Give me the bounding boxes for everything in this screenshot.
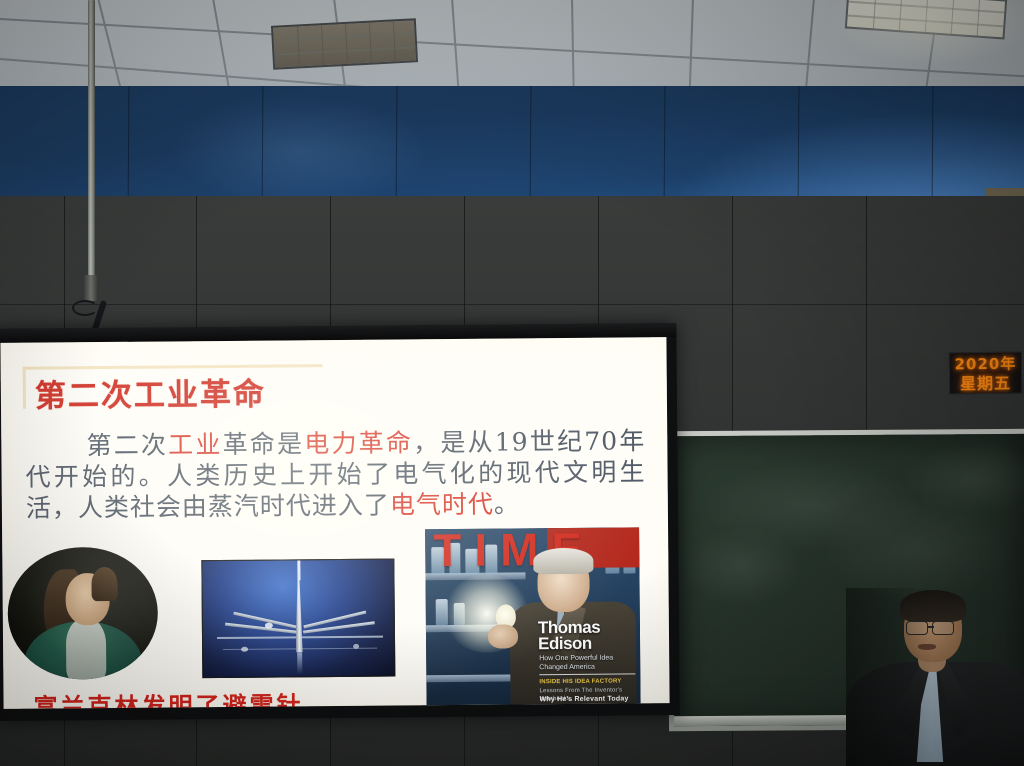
microphone-clip-icon — [72, 300, 98, 316]
magazine-headline: Thomas Edison — [538, 619, 638, 652]
magazine-headline-line2: Edison — [538, 635, 638, 652]
presentation-slide: 第二次工业革命 第二次工业革命是电力革命，是从19世纪70年代开始的。人类历史上… — [0, 337, 669, 709]
ceiling-light-fixture-off — [271, 18, 418, 70]
title-rule-left — [23, 367, 26, 409]
franklin-portrait-image — [7, 547, 158, 680]
body-run-3: 革命是 — [223, 429, 305, 459]
body-highlight-industry: 工业 — [168, 430, 223, 459]
led-weekday-text: 星期五 — [950, 374, 1021, 394]
upper-wall-panels — [0, 86, 1024, 214]
microphone-pole — [88, 0, 95, 290]
body-run-1: 第二次 — [85, 430, 168, 460]
slide-body-text: 第二次工业革命是电力革命，是从19世纪70年代开始的。人类历史上开始了电气化的现… — [25, 425, 646, 523]
paragraph-indent — [25, 454, 85, 455]
led-year-text: 2020年 — [950, 355, 1021, 375]
led-date-display: 2020年 星期五 — [949, 352, 1022, 395]
microphone-mount — [84, 275, 98, 301]
lecturer — [846, 588, 1024, 766]
body-highlight-electric-revolution: 电力革命 — [304, 428, 413, 458]
magazine-deck: How One Powerful Idea Changed America — [539, 653, 637, 672]
lecturer-mouth — [918, 644, 936, 650]
lightning-rod-image — [201, 558, 395, 678]
page-title: 第二次工业革命 — [35, 369, 266, 416]
glasses-bridge — [927, 626, 934, 628]
body-run-7: 。 — [494, 489, 520, 518]
magazine-tagline: Why He's Relevant Today — [540, 695, 638, 704]
projection-screen: 第二次工业革命 第二次工业革命是电力革命，是从19世纪70年代开始的。人类历史上… — [0, 323, 680, 721]
magazine-deck-line2: Changed America — [539, 662, 637, 672]
glasses-icon-right — [932, 621, 954, 635]
classroom-scene: 2020年 星期五 第二次工业革命 第二次工业革命是电力革命，是从19世纪70年… — [0, 0, 1024, 766]
ceiling-light-fixture-on — [845, 0, 1007, 40]
glasses-icon-left — [906, 621, 928, 635]
slide-caption: 富兰克林发明了避雷针 — [33, 685, 303, 709]
body-highlight-electric-age: 电气时代 — [390, 490, 494, 520]
lecturer-hair — [900, 590, 966, 622]
magazine-kicker: INSIDE HIS IDEA FACTORY — [539, 677, 637, 686]
time-magazine-image: TIME Thomas Edison How One Powerful Idea… — [425, 527, 641, 705]
